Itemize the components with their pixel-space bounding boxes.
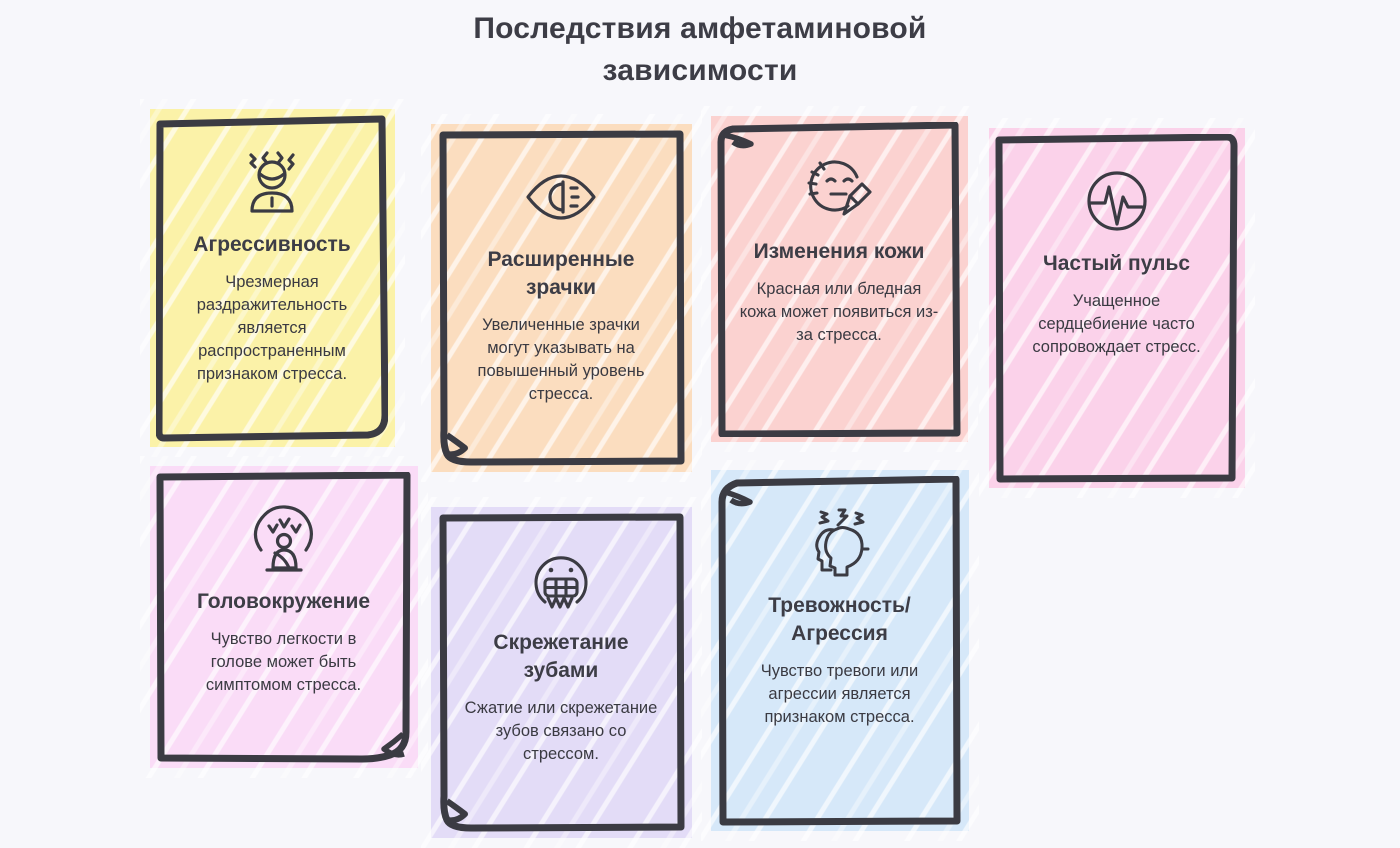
card-description: Чувство легкости в голове может быть сим… (184, 628, 384, 697)
angry-person-icon (233, 143, 311, 221)
card-content: Агрессивность Чрезмерная раздражительнос… (156, 115, 388, 442)
grinding-teeth-face-icon (522, 541, 600, 619)
card-content: Изменения кожи Красная или бледная кожа … (717, 122, 961, 437)
card-dilated-pupils[interactable]: Расширенные зрачки Увеличенные зрачки мо… (437, 130, 685, 467)
face-brush-icon (800, 150, 878, 228)
card-skin-changes[interactable]: Изменения кожи Красная или бледная кожа … (717, 122, 961, 437)
card-description: Чувство тревоги или агрессии является пр… (740, 660, 940, 729)
card-description: Учащенное сердцебиение часто сопровождае… (1017, 290, 1217, 359)
card-content: Тревожность/ Агрессия Чувство тревоги ил… (717, 476, 962, 826)
card-description: Красная или бледная кожа может появиться… (739, 278, 939, 347)
card-content: Расширенные зрачки Увеличенные зрачки мо… (437, 130, 685, 467)
card-description: Чрезмерная раздражительность является ра… (172, 271, 372, 386)
card-description: Увеличенные зрачки могут указывать на по… (461, 314, 661, 406)
card-title: Расширенные зрачки (456, 246, 666, 302)
card-aggression[interactable]: Агрессивность Чрезмерная раздражительнос… (156, 115, 388, 442)
pulse-circle-icon (1078, 162, 1156, 240)
cards-board: Агрессивность Чрезмерная раздражительнос… (0, 0, 1400, 846)
card-description: Сжатие или скрежетание зубов связано со … (461, 697, 661, 766)
card-title: Головокружение (197, 588, 370, 616)
card-title: Агрессивность (193, 231, 350, 259)
card-rapid-pulse[interactable]: Частый пульс Учащенное сердцебиение част… (995, 134, 1238, 483)
card-teeth-grinding[interactable]: Скрежетание зубами Сжатие или скрежетани… (437, 513, 685, 833)
card-content: Частый пульс Учащенное сердцебиение част… (995, 134, 1238, 483)
card-title: Изменения кожи (754, 238, 925, 266)
two-heads-lightning-icon (801, 504, 879, 582)
card-title: Скрежетание зубами (456, 629, 666, 685)
dizzy-person-icon (245, 500, 323, 578)
card-dizziness[interactable]: Головокружение Чувство легкости в голове… (156, 472, 411, 763)
card-anxiety-aggression[interactable]: Тревожность/ Агрессия Чувство тревоги ил… (717, 476, 962, 826)
card-title: Частый пульс (1043, 250, 1190, 278)
card-content: Головокружение Чувство легкости в голове… (156, 472, 411, 763)
eye-icon (522, 158, 600, 236)
card-content: Скрежетание зубами Сжатие или скрежетани… (437, 513, 685, 833)
card-title: Тревожность/ Агрессия (735, 592, 945, 648)
